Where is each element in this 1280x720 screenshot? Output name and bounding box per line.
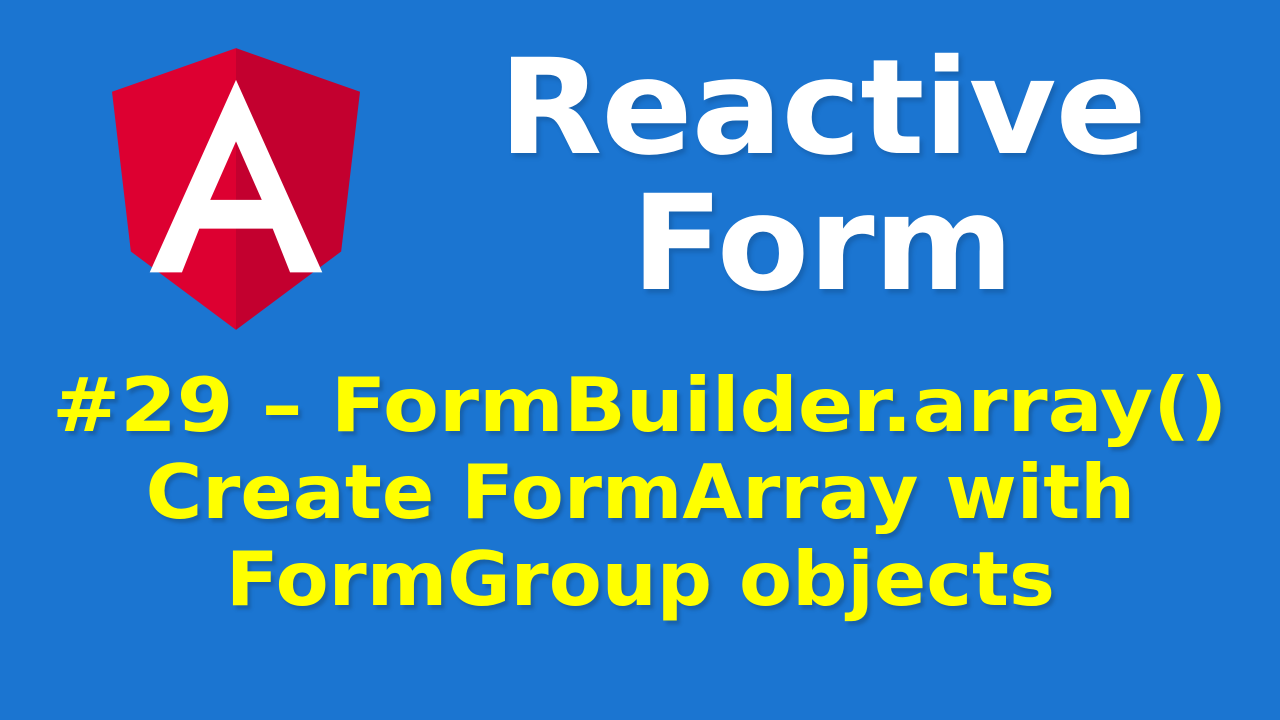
subtitle-line-create-formarray: Create FormArray with <box>145 455 1135 530</box>
header-band: Reactive Form <box>0 0 1280 345</box>
angular-shield-logo <box>112 48 360 330</box>
page-title: Reactive Form <box>378 14 1266 339</box>
subtitle-line-episode-method: #29 – FormBuilder.array() <box>52 368 1228 443</box>
title-line-form: Form <box>631 180 1013 309</box>
title-line-reactive: Reactive <box>498 44 1145 173</box>
subtitle-line-formgroup-objects: FormGroup objects <box>225 542 1054 617</box>
video-thumbnail: Reactive Form #29 – FormBuilder.array() … <box>0 0 1280 720</box>
subtitle-block: #29 – FormBuilder.array() Create FormArr… <box>0 368 1280 704</box>
